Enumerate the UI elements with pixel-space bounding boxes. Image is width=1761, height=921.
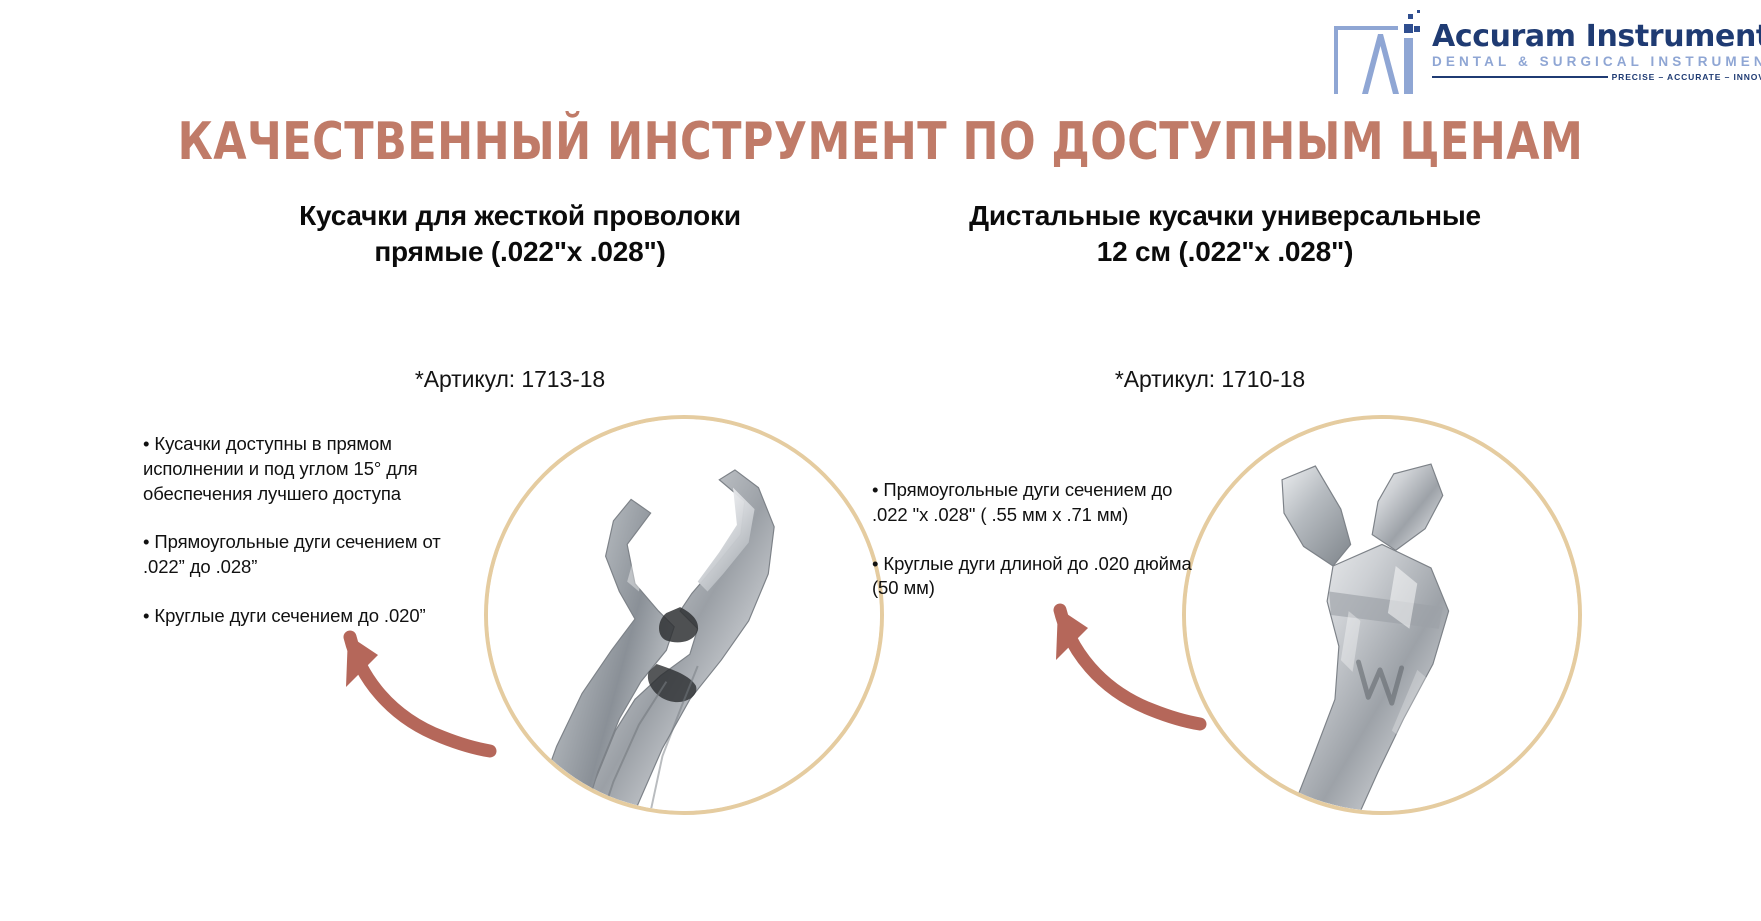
article-number-left: *Артикул: 1713-18 xyxy=(300,366,720,393)
article-number-right: *Артикул: 1710-18 xyxy=(1000,366,1420,393)
brand-tagline: PRECISE – ACCURATE – INNOVATIVE xyxy=(1612,72,1761,82)
brand-subtitle: DENTAL & SURGICAL INSTRUMENTS xyxy=(1432,54,1761,71)
product-title-left: Кусачки для жесткой проволоки прямые (.0… xyxy=(200,198,840,271)
product-title-left-line1: Кусачки для жесткой проволоки xyxy=(200,198,840,234)
feature-list-right: • Прямоугольные дуги сечением до .022 "х… xyxy=(872,478,1202,601)
feature-list-left: • Кусачки доступны в прямом исполнении и… xyxy=(143,432,483,629)
curved-arrow-icon-right xyxy=(1040,598,1210,743)
page-title: КАЧЕСТВЕННЫЙ ИНСТРУМЕНТ ПО ДОСТУПНЫМ ЦЕН… xyxy=(70,112,1690,172)
wire-cutter-pliers-photo xyxy=(484,415,884,815)
list-item: • Кусачки доступны в прямом исполнении и… xyxy=(143,432,483,506)
product-title-right-line1: Дистальные кусачки универсальные xyxy=(905,198,1545,234)
tagline-rule xyxy=(1432,76,1608,78)
list-item: • Прямоугольные дуги сечением до .022 "х… xyxy=(872,478,1202,528)
brand-name: Accuram Instruments xyxy=(1432,22,1761,53)
list-item: • Прямоугольные дуги сечением от .022” д… xyxy=(143,530,483,580)
brand-logo: Accuram Instruments DENTAL & SURGICAL IN… xyxy=(1328,8,1748,100)
list-item: • Круглые дуги длиной до .020 дюйма (50 … xyxy=(872,552,1202,602)
brand-lockup-text: Accuram Instruments DENTAL & SURGICAL IN… xyxy=(1432,8,1761,82)
ai-monogram-icon xyxy=(1328,8,1428,96)
brand-tagline-row: PRECISE – ACCURATE – INNOVATIVE xyxy=(1432,72,1761,82)
distal-end-cutter-photo xyxy=(1182,415,1582,815)
product-title-right-line2: 12 см (.022"х .028") xyxy=(905,234,1545,270)
slide-canvas: Accuram Instruments DENTAL & SURGICAL IN… xyxy=(0,0,1761,921)
product-title-left-line2: прямые (.022"х .028") xyxy=(200,234,840,270)
curved-arrow-icon-left xyxy=(330,625,500,770)
product-title-right: Дистальные кусачки универсальные 12 см (… xyxy=(905,198,1545,271)
